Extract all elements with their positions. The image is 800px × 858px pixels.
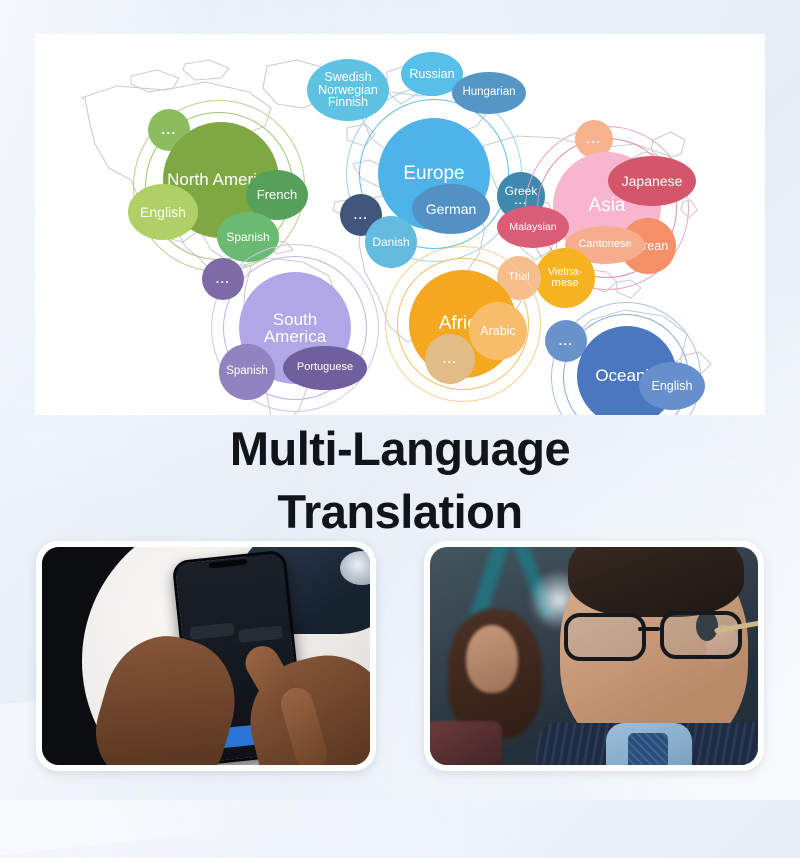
photo-right-inner [430, 547, 758, 765]
bubble-south-america-ellipsis[interactable]: ... [202, 258, 244, 300]
photo-phone-translation[interactable] [36, 541, 376, 771]
bubble-language-malaysian[interactable]: Malaysian [497, 206, 569, 248]
bubble-language-german[interactable]: German [412, 184, 490, 234]
world-map-panel: ... North America English French Spanish… [35, 34, 765, 415]
bubble-language-arabic[interactable]: Arabic [469, 302, 527, 360]
phone-input-field-2 [238, 625, 283, 643]
page-title: Multi-Language Translation [0, 418, 800, 543]
eyeglasses [564, 613, 750, 655]
glasses-lens-right [660, 611, 742, 659]
bubble-africa-ellipsis[interactable]: ... [425, 334, 475, 384]
bubble-language-nordic[interactable]: Swedish Norwegian Finnish [307, 59, 389, 121]
title-line-2: Translation [0, 481, 800, 544]
glasses-lens-left [564, 613, 646, 661]
phone-notch [209, 559, 247, 569]
photo-left-scene [42, 547, 370, 765]
photo-right-scene [430, 547, 758, 765]
glasses-bridge [638, 627, 660, 631]
background-person-phone [430, 721, 502, 765]
bubble-language-portuguese[interactable]: Portuguese [283, 346, 367, 390]
bubble-language-danish[interactable]: Danish [365, 216, 417, 268]
man-hair [568, 547, 744, 617]
phone-input-field-1 [189, 622, 234, 640]
bubble-language-english-oc[interactable]: English [639, 362, 705, 410]
photo-left-inner [42, 547, 370, 765]
bubble-language-english-na[interactable]: English [128, 184, 198, 240]
bubble-language-hungarian[interactable]: Hungarian [452, 72, 526, 114]
title-line-1: Multi-Language [230, 422, 570, 475]
background-person-face [466, 625, 518, 693]
bubble-language-vietnamese[interactable]: Vietna- mese [535, 248, 595, 308]
bubble-language-spanish-sa[interactable]: Spanish [219, 344, 275, 400]
photo-businessman[interactable] [424, 541, 764, 771]
bubble-language-japanese[interactable]: Japanese [608, 156, 696, 206]
necktie [628, 733, 668, 765]
